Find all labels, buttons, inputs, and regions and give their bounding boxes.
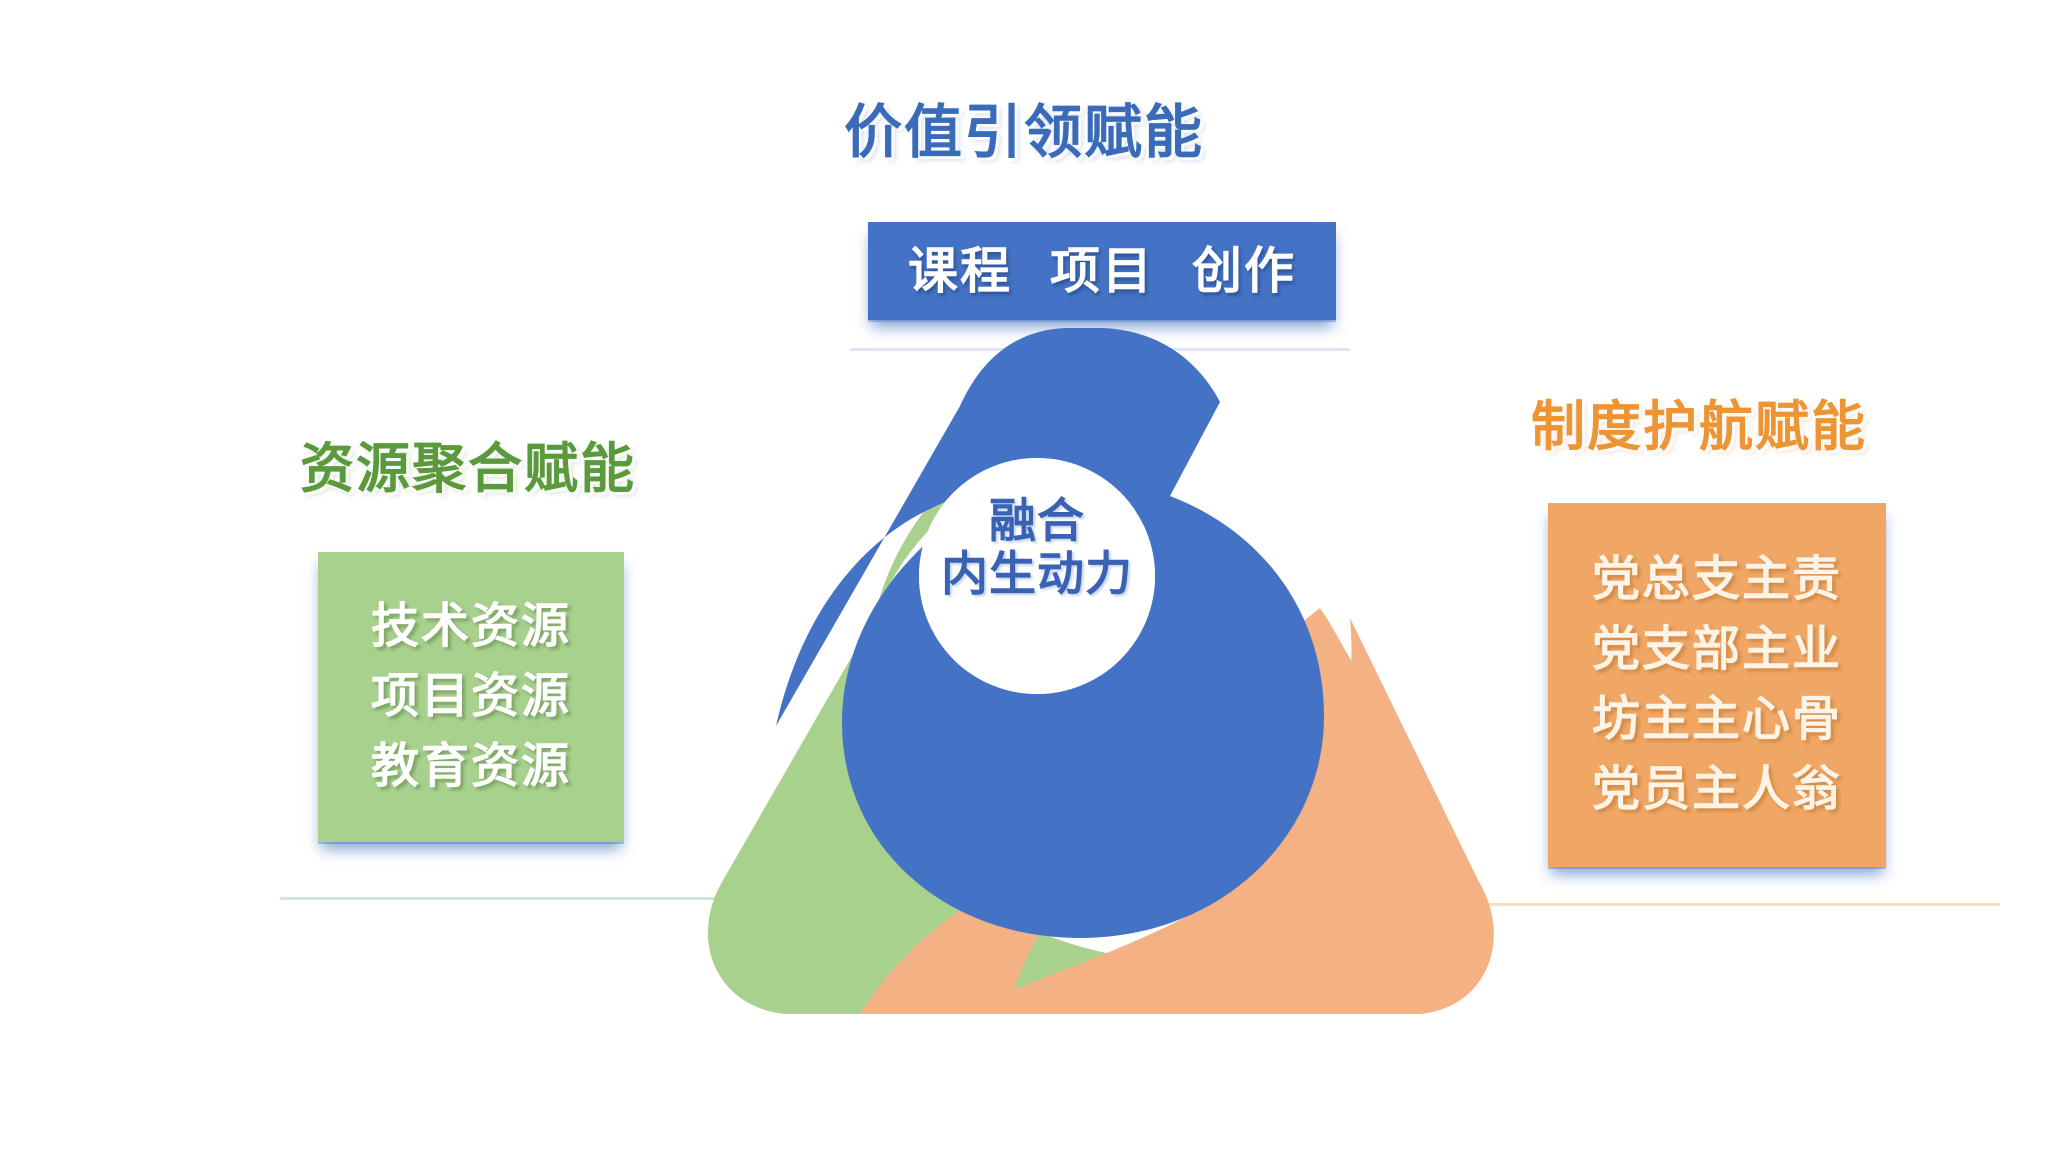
diagram-canvas: 价值引领赋能 课程 项目 创作 资源聚合赋能 技术资源 项目资源 教育资源 制度… [0, 0, 2048, 1151]
panel-value-leadership[interactable]: 课程 项目 创作 [868, 222, 1336, 320]
list-item[interactable]: 技术资源 [371, 603, 571, 651]
list-item[interactable]: 项目资源 [371, 673, 571, 721]
chip-course[interactable]: 课程 [908, 246, 1012, 296]
chip-creation[interactable]: 创作 [1192, 246, 1296, 296]
panel-resource-aggregation[interactable]: 技术资源 项目资源 教育资源 [318, 552, 624, 842]
list-item[interactable]: 党员主人翁 [1592, 766, 1842, 814]
list-item[interactable]: 坊主主心骨 [1592, 696, 1842, 744]
panel-institutional-support[interactable]: 党总支主责 党支部主业 坊主主心骨 党员主人翁 [1548, 503, 1886, 867]
list-item[interactable]: 党支部主业 [1592, 626, 1842, 674]
chip-project[interactable]: 项目 [1050, 246, 1154, 296]
list-item[interactable]: 教育资源 [371, 743, 571, 791]
list-item[interactable]: 党总支主责 [1592, 556, 1842, 604]
heading-resource-aggregation: 资源聚合赋能 [300, 442, 636, 496]
heading-value-leadership: 价值引领赋能 [0, 104, 2048, 162]
triangle-diagram [660, 318, 1540, 1038]
core-circle [919, 458, 1155, 694]
heading-institutional-support: 制度护航赋能 [1531, 400, 1867, 454]
